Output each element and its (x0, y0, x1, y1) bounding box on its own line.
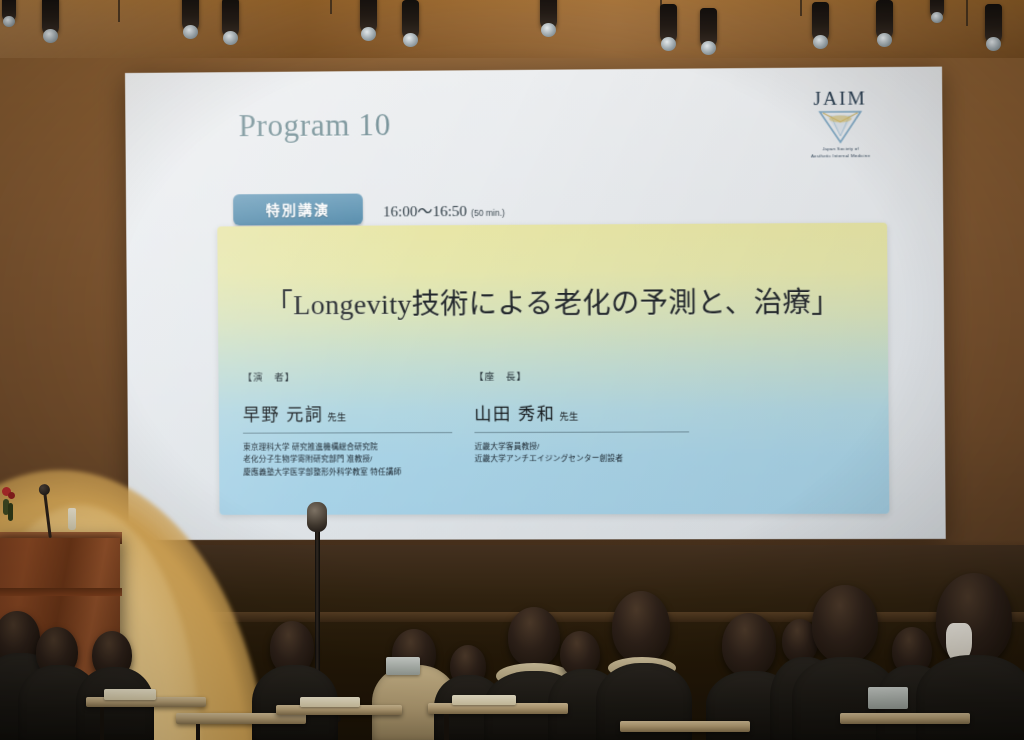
chair-name-text: 山田 秀和 (474, 405, 555, 424)
laptop (386, 657, 420, 675)
chair-affiliation-line1: 近畿大学客員教授/ (475, 440, 690, 453)
handout (104, 689, 156, 700)
stage-light-icon (2, 0, 16, 22)
light-cable (330, 0, 332, 14)
people-columns: 【演 者】 早野 元詞先生 東京理科大学 研究推進機構総合研究院 老化分子生物学… (242, 367, 864, 478)
speaker-block: 【演 者】 早野 元詞先生 東京理科大学 研究推進機構総合研究院 老化分子生物学… (242, 369, 452, 479)
speaker-role-label: 【演 者】 (242, 369, 451, 384)
desk-leg (100, 707, 104, 740)
audience-head (612, 591, 670, 663)
chair-honorific: 先生 (559, 412, 578, 422)
stage-light-icon (540, 0, 557, 30)
duration-text: (50 min.) (471, 208, 505, 218)
light-cable (800, 0, 802, 16)
desk-leg (196, 724, 200, 740)
stage-light-icon (812, 2, 829, 42)
logo-wordmark: JAIM (785, 89, 895, 109)
speaker-affiliation-line3: 慶應義塾大学医学部整形外科学教室 特任講師 (243, 466, 452, 479)
stage-light-icon (876, 0, 893, 40)
divider (243, 432, 452, 434)
stage-light-icon (42, 0, 59, 36)
handout (300, 697, 360, 707)
presentation-slide: Program 10 JAIM Japan Society of Aesthet… (125, 67, 946, 540)
session-type-badge: 特別講演 (233, 194, 363, 226)
stage-light-icon (182, 0, 199, 32)
chair-name: 山田 秀和先生 (474, 399, 689, 432)
audience: OTO (0, 545, 1024, 740)
session-time: 16:00〜16:50 (50 min.) (383, 200, 505, 222)
laptop (868, 687, 908, 709)
flower-arrangement (2, 487, 18, 531)
session-type-label: 特別講演 (266, 199, 330, 219)
lecture-card: 「Longevity技術による老化の予測と、治療」 【演 者】 早野 元詞先生 … (217, 223, 889, 515)
audience-desk (840, 713, 970, 724)
ceiling (0, 0, 1024, 58)
stage-light-icon (222, 0, 239, 38)
stage-light-icon (700, 8, 717, 48)
podium-bottle (68, 508, 76, 530)
light-cable (966, 0, 968, 26)
audience-desk (620, 721, 750, 732)
logo-subtitle-line2: Aesthetic Internal Medicine (786, 152, 896, 159)
stage-light-icon (660, 4, 677, 44)
chair-affiliation-line2: 近畿大学アンチエイジングセンター創設者 (475, 453, 690, 466)
chair-block: 【座 長】 山田 秀和先生 近畿大学客員教授/ 近畿大学アンチエイジングセンター… (474, 368, 690, 478)
speaker-name-text: 早野 元詞 (243, 405, 324, 424)
handout (452, 695, 516, 705)
audience-head (508, 607, 560, 667)
time-range-text: 16:00〜16:50 (383, 200, 467, 222)
audience-head (722, 613, 776, 677)
speaker-honorific: 先生 (327, 412, 346, 422)
logo-diamond-icon (817, 110, 864, 145)
projection-screen: Program 10 JAIM Japan Society of Aesthet… (125, 67, 946, 540)
conference-hall-photo: Program 10 JAIM Japan Society of Aesthet… (0, 0, 1024, 740)
speaker-name: 早野 元詞先生 (243, 400, 452, 433)
desk-leg (444, 714, 449, 740)
stage-light-icon (360, 0, 377, 34)
divider (474, 431, 689, 433)
jaim-logo: JAIM Japan Society of Aesthetic Internal… (785, 89, 896, 160)
stage-light-icon (402, 0, 419, 40)
chair-role-label: 【座 長】 (474, 368, 689, 383)
lecture-title: 「Longevity技術による老化の予測と、治療」 (218, 280, 888, 323)
audience-head (812, 585, 878, 663)
speaker-affiliation-line2: 老化分子生物学寄附研究部門 准教授/ (243, 453, 452, 466)
audience-body (916, 655, 1024, 740)
stage-light-icon (930, 0, 944, 18)
light-cable (118, 0, 120, 22)
page-title: Program 10 (238, 107, 391, 144)
speaker-affiliation-line1: 東京理科大学 研究推進機構総合研究院 (243, 441, 452, 454)
stage-light-icon (985, 4, 1002, 44)
